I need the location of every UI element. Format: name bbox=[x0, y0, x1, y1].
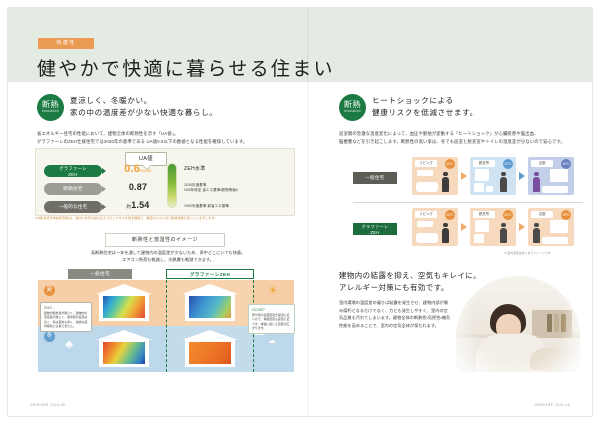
tab-general-house: 一般住宅 bbox=[68, 269, 132, 279]
brochure-page: 快適性 健やかで快適に暮らせる住まい 断熱 Insulation 夏涼しく、冬暖… bbox=[0, 0, 600, 424]
left-heading-line1: 夏涼しく、冬暖かい。 bbox=[70, 95, 218, 107]
ua-footnote: UA値(外皮平均熱貫流率)は、室内と外気の熱の出入りのしやすさを表す数値で、数値… bbox=[35, 216, 293, 221]
room-temp: 22℃ bbox=[445, 210, 455, 220]
furniture-sofa bbox=[416, 182, 438, 192]
right-body-line2: 脳梗塞などを引き起こします。断熱性の高い家は、冬でも居室と脱衣室やトイレの温度差… bbox=[339, 138, 583, 146]
furniture-window bbox=[550, 169, 568, 182]
lifestyle-photo bbox=[456, 276, 580, 372]
person-figure bbox=[533, 172, 540, 192]
person-head bbox=[534, 223, 538, 227]
furniture-basket bbox=[474, 234, 484, 243]
rooms-note: ※ 室内温度はあくまでイメージです bbox=[504, 251, 551, 255]
room-name: リビング bbox=[415, 160, 437, 167]
header-band: 快適性 健やかで快適に暮らせる住まい bbox=[8, 8, 592, 82]
flow-arrow bbox=[519, 172, 525, 180]
callout-good-text: 床や壁の表面温度が室温に近いので、体感温度も室温に近づき、快適に感じる温度が広が… bbox=[252, 313, 290, 330]
callout-good-tag: Good!! bbox=[252, 308, 291, 312]
ua-desc-zeh: ZEH水準 bbox=[184, 167, 206, 172]
photo-vignette bbox=[456, 276, 580, 372]
house-zeh-winter bbox=[182, 330, 238, 368]
row-label-general-house: 一般住宅 bbox=[353, 172, 397, 184]
furniture-bathtub bbox=[542, 237, 568, 244]
ua-desc-insulated: 2030年度基準 H25年改定 省エネ基準・断熱等級4 bbox=[184, 183, 238, 193]
person-head bbox=[501, 172, 505, 176]
thermal-compare-title: 断熱性と放湿性のイメージ bbox=[105, 233, 225, 247]
ua-desc-sub2: H25年改定 省エネ基準・断熱等級4 bbox=[184, 188, 238, 193]
room-zeh-dressing: 脱衣所 20℃ bbox=[470, 208, 516, 246]
room-zeh-bath: 浴室 19℃ bbox=[528, 208, 574, 246]
tc-lead-line2: エアコン負荷も軽減し、光熱費も軽減できます。 bbox=[43, 256, 293, 263]
right-heading-line2: 健康リスクを低減させます。 bbox=[372, 107, 478, 119]
callout-bad-tag: Bad... bbox=[44, 306, 88, 310]
room-name: 浴室 bbox=[531, 211, 553, 218]
room-general-dressing: 脱衣所 12℃ bbox=[470, 157, 516, 195]
person-head bbox=[443, 172, 447, 176]
room-temp: 19℃ bbox=[561, 210, 571, 220]
bare-tree-icon: ♣ bbox=[62, 336, 76, 352]
furniture-basket bbox=[474, 183, 484, 192]
person-head bbox=[443, 223, 447, 227]
thermal-image-zeh-winter bbox=[189, 342, 231, 364]
folio-left: GRAFARE 2024-06 bbox=[30, 403, 65, 407]
left-heading-line2: 家の中の温度差が少ない快適な暮らし。 bbox=[70, 107, 218, 119]
room-temp: 10℃ bbox=[561, 159, 571, 169]
right-heading-lines: ヒートショックによる 健康リスクを低減させます。 bbox=[372, 95, 478, 118]
room-zeh-living: リビング 22℃ bbox=[412, 208, 458, 246]
ua-value-zeh: 0.6W/㎡K bbox=[112, 163, 164, 175]
badge-main-text: 断熱 bbox=[37, 100, 64, 109]
folio-right: GRAFARE 2024-06 bbox=[535, 403, 570, 407]
furniture-aircon bbox=[417, 170, 433, 176]
room-temp: 20℃ bbox=[503, 210, 513, 220]
callout-bad-text: 建物の断熱性が低いと、建物内の温度差が激しく、夏中間の室温は高く、冬は室内も寒く… bbox=[44, 311, 87, 328]
page-title: 健やかで快適に暮らせる住まい bbox=[37, 54, 335, 81]
sun-icon: ☀ bbox=[266, 284, 280, 298]
room-name: 脱衣所 bbox=[473, 160, 495, 167]
callout-bad: Bad... 建物の断熱性が低いと、建物内の温度差が激しく、夏中間の室温は高く、… bbox=[40, 302, 92, 332]
furniture-mirror bbox=[475, 220, 489, 232]
person-torso bbox=[442, 177, 449, 192]
insulation-badge-right: 断熱 Insulation bbox=[339, 94, 366, 121]
room-general-bath: 浴室 10℃ bbox=[528, 157, 574, 195]
flow-arrow bbox=[461, 223, 467, 231]
tab-grafare-zeh: グラファーレZEH bbox=[166, 269, 254, 279]
right-heading-line1: ヒートショックによる bbox=[372, 95, 478, 107]
left-heading-lines: 夏涼しく、冬暖かい。 家の中の温度差が少ない快適な暮らし。 bbox=[70, 95, 218, 118]
brochure-spread: 快適性 健やかで快適に暮らせる住まい 断熱 Insulation 夏涼しく、冬暖… bbox=[8, 8, 592, 416]
house-general-summer bbox=[96, 284, 152, 322]
room-temp: 12℃ bbox=[503, 159, 513, 169]
ua-row: 一般的な住宅 約1.54 1992年度基準 新省エネ基準 bbox=[36, 199, 294, 215]
left-body-line2: グラファーレのZEH仕様住宅では2030年の基準である UA値0.6以下の数値と… bbox=[37, 138, 293, 146]
left-body-line1: 省エネルギー住宅の性能において、建物全体の断熱性を示す「UA値」。 bbox=[37, 130, 293, 138]
ua-value-panel: UA値 グラファーレ ZEH 0.6W/㎡K ZEH水準 断熱住宅 0.87 2… bbox=[35, 148, 295, 216]
room-name: リビング bbox=[415, 211, 437, 218]
right-bottom-copy: 室内環境の温度差の偏りは結露を発生させ、建物内部が傷み腐朽となるだけでなく、カビ… bbox=[339, 299, 451, 329]
thermal-image-general-summer bbox=[103, 296, 145, 318]
insulation-badge-left: 断熱 Insulation bbox=[37, 94, 64, 121]
ua-row-label-general: 一般的な住宅 bbox=[44, 201, 102, 213]
thermal-compare-lead: 高断熱住宅は一年を通して建物内の温度差が少ないため、家中どこにいても快適。 エア… bbox=[43, 249, 293, 263]
person-torso bbox=[533, 228, 540, 243]
furniture-window bbox=[550, 220, 568, 233]
ua-row-label-zeh: グラファーレ ZEH bbox=[44, 165, 102, 177]
ua-label-line2: ZEH bbox=[44, 172, 102, 178]
furniture-aircon bbox=[417, 221, 433, 227]
person-head bbox=[534, 172, 538, 176]
person-figure bbox=[533, 223, 540, 243]
winter-season-dot: 冬 bbox=[44, 331, 55, 342]
ua-row: 断熱住宅 0.87 2030年度基準 H25年改定 省エネ基準・断熱等級4 bbox=[36, 181, 294, 197]
thermal-image-general-winter bbox=[103, 342, 145, 364]
person-figure bbox=[442, 172, 449, 192]
person-torso bbox=[533, 177, 540, 192]
person-torso bbox=[442, 228, 449, 243]
person-torso bbox=[500, 177, 507, 192]
row-label-grafare-zeh: グラファーレ ZEH bbox=[353, 223, 397, 235]
ua-value-insulated: 0.87 bbox=[112, 182, 164, 192]
person-figure bbox=[500, 223, 507, 243]
furniture-basket bbox=[486, 186, 493, 192]
furniture-bathtub bbox=[542, 186, 568, 193]
ua-value-general: 約1.54 bbox=[112, 200, 164, 210]
callout-good: Good!! 床や壁の表面温度が室温に近いので、体感温度も室温に近づき、快適に感… bbox=[248, 304, 295, 334]
category-badge: 快適性 bbox=[38, 38, 94, 49]
room-name: 脱衣所 bbox=[473, 211, 495, 218]
thermal-image-zeh-summer bbox=[189, 296, 231, 318]
ua-desc-general: 1992年度基準 新省エネ基準 bbox=[184, 204, 229, 209]
flow-arrow bbox=[519, 223, 525, 231]
badge-sub-text: Insulation bbox=[37, 109, 64, 114]
house-zeh-summer bbox=[182, 284, 238, 322]
room-general-living: リビング 20℃ bbox=[412, 157, 458, 195]
right-body-line1: 居室間の急激な温度変化によって、血圧や脈拍が変動する「ヒートショック」が心臓疾患… bbox=[339, 130, 583, 138]
rooms-divider bbox=[353, 202, 583, 203]
left-body-copy: 省エネルギー住宅の性能において、建物全体の断熱性を示す「UA値」。 グラファーレ… bbox=[37, 130, 293, 146]
cloud-icon: ☁ bbox=[268, 336, 276, 346]
person-head bbox=[501, 223, 505, 227]
badge-main-text: 断熱 bbox=[339, 100, 366, 109]
tc-lead-line1: 高断熱住宅は一年を通して建物内の温度差が少ないため、家中どこにいても快適。 bbox=[43, 249, 293, 256]
flow-arrow bbox=[461, 172, 467, 180]
room-temp: 20℃ bbox=[445, 159, 455, 169]
ua-row-label-insulated: 断熱住宅 bbox=[44, 183, 102, 195]
house-general-winter bbox=[96, 330, 152, 368]
ua-unit: W/㎡K bbox=[140, 168, 152, 173]
person-figure bbox=[442, 223, 449, 243]
summer-season-dot: 夏 bbox=[44, 285, 55, 296]
furniture-sofa bbox=[416, 233, 438, 243]
ua-row: グラファーレ ZEH 0.6W/㎡K ZEH水準 bbox=[36, 163, 294, 179]
furniture-mirror bbox=[475, 169, 489, 181]
person-figure bbox=[500, 172, 507, 192]
badge-sub-text: Insulation bbox=[339, 109, 366, 114]
room-name: 浴室 bbox=[531, 160, 553, 167]
right-body-copy: 居室間の急激な温度変化によって、血圧や脈拍が変動する「ヒートショック」が心臓疾患… bbox=[339, 130, 583, 146]
person-torso bbox=[500, 228, 507, 243]
zeh-label-line2: ZEH bbox=[353, 230, 397, 236]
